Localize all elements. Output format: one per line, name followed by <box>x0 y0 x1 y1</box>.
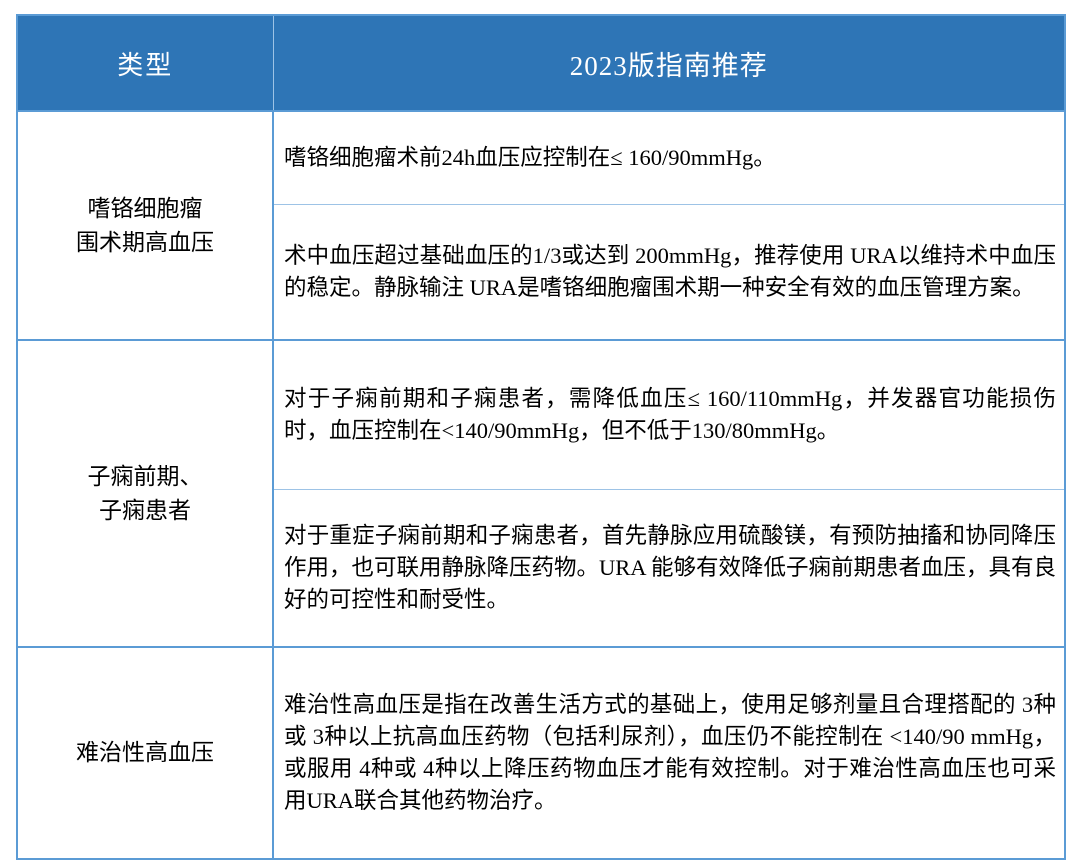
recommendation-text: 嗜铬细胞瘤术前24h血压应控制在≤ 160/90mmHg。 <box>274 112 1064 205</box>
recommendation-row: 对于子痫前期和子痫患者，需降低血压≤ 160/110mmHg，并发器官功能损伤时… <box>274 341 1064 490</box>
recommendation-text: 难治性高血压是指在改善生活方式的基础上，使用足够剂量且合理搭配的 3种或 3种以… <box>274 648 1064 858</box>
table-row: 难治性高血压 难治性高血压是指在改善生活方式的基础上，使用足够剂量且合理搭配的 … <box>17 647 1065 859</box>
column-header-recommendation: 2023版指南推荐 <box>273 15 1065 111</box>
table-body: 嗜铬细胞瘤 围术期高血压 嗜铬细胞瘤术前24h血压应控制在≤ 160/90mmH… <box>17 111 1065 859</box>
recommendation-subtable: 嗜铬细胞瘤术前24h血压应控制在≤ 160/90mmHg。 术中血压超过基础血压… <box>274 112 1064 339</box>
recommendation-subtable: 难治性高血压是指在改善生活方式的基础上，使用足够剂量且合理搭配的 3种或 3种以… <box>274 648 1064 858</box>
row-type-line: 嗜铬细胞瘤 <box>24 192 266 225</box>
table-row: 嗜铬细胞瘤 围术期高血压 嗜铬细胞瘤术前24h血压应控制在≤ 160/90mmH… <box>17 111 1065 340</box>
recommendation-text: 术中血压超过基础血压的1/3或达到 200mmHg，推荐使用 URA以维持术中血… <box>274 205 1064 340</box>
recommendation-row: 难治性高血压是指在改善生活方式的基础上，使用足够剂量且合理搭配的 3种或 3种以… <box>274 648 1064 858</box>
row-type-line: 难治性高血压 <box>24 736 266 769</box>
row-type-cell: 嗜铬细胞瘤 围术期高血压 <box>17 111 273 340</box>
recommendation-text: 对于子痫前期和子痫患者，需降低血压≤ 160/110mmHg，并发器官功能损伤时… <box>274 341 1064 490</box>
row-type-line: 子痫患者 <box>24 494 266 527</box>
header-row: 类型 2023版指南推荐 <box>17 15 1065 111</box>
row-recommendation-group: 嗜铬细胞瘤术前24h血压应控制在≤ 160/90mmHg。 术中血压超过基础血压… <box>273 111 1065 340</box>
column-header-type: 类型 <box>17 15 273 111</box>
table-row: 子痫前期、 子痫患者 对于子痫前期和子痫患者，需降低血压≤ 160/110mmH… <box>17 340 1065 647</box>
row-type-cell: 子痫前期、 子痫患者 <box>17 340 273 647</box>
row-recommendation-group: 难治性高血压是指在改善生活方式的基础上，使用足够剂量且合理搭配的 3种或 3种以… <box>273 647 1065 859</box>
row-recommendation-group: 对于子痫前期和子痫患者，需降低血压≤ 160/110mmHg，并发器官功能损伤时… <box>273 340 1065 647</box>
table-header: 类型 2023版指南推荐 <box>17 15 1065 111</box>
row-type-line: 围术期高血压 <box>24 226 266 259</box>
recommendation-row: 术中血压超过基础血压的1/3或达到 200mmHg，推荐使用 URA以维持术中血… <box>274 205 1064 340</box>
recommendation-text: 对于重症子痫前期和子痫患者，首先静脉应用硫酸镁，有预防抽搐和协同降压作用，也可联… <box>274 490 1064 647</box>
document-page: 类型 2023版指南推荐 嗜铬细胞瘤 围术期高血压 嗜铬细胞瘤术前24h血压应控… <box>0 0 1080 763</box>
recommendation-row: 嗜铬细胞瘤术前24h血压应控制在≤ 160/90mmHg。 <box>274 112 1064 205</box>
row-type-cell: 难治性高血压 <box>17 647 273 859</box>
recommendation-row: 对于重症子痫前期和子痫患者，首先静脉应用硫酸镁，有预防抽搐和协同降压作用，也可联… <box>274 490 1064 647</box>
row-type-line: 子痫前期、 <box>24 460 266 493</box>
recommendation-subtable: 对于子痫前期和子痫患者，需降低血压≤ 160/110mmHg，并发器官功能损伤时… <box>274 341 1064 646</box>
guideline-table: 类型 2023版指南推荐 嗜铬细胞瘤 围术期高血压 嗜铬细胞瘤术前24h血压应控… <box>16 14 1066 860</box>
